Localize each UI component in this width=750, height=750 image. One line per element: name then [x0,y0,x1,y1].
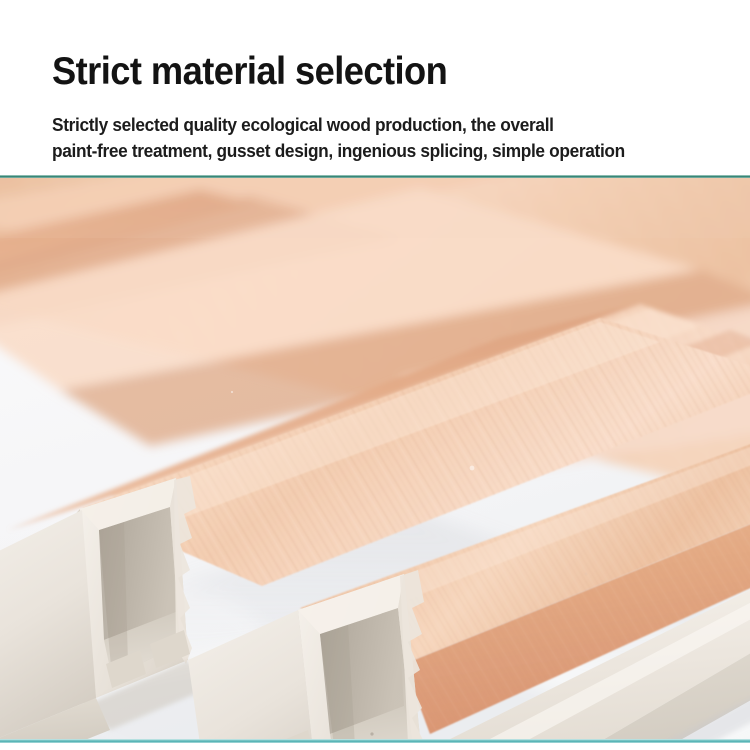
page-subtitle: Strictly selected quality ecological woo… [52,112,717,164]
product-photo-illustration [0,178,750,739]
product-photo [0,178,750,739]
product-feature-banner: Strict material selection Strictly selec… [0,0,750,750]
banner-header: Strict material selection Strictly selec… [0,0,750,175]
footer-divider-rule [0,739,750,743]
subtitle-line-2: paint-free treatment, gusset design, ing… [52,138,717,164]
subtitle-line-1: Strictly selected quality ecological woo… [52,112,717,138]
page-title: Strict material selection [52,50,447,94]
